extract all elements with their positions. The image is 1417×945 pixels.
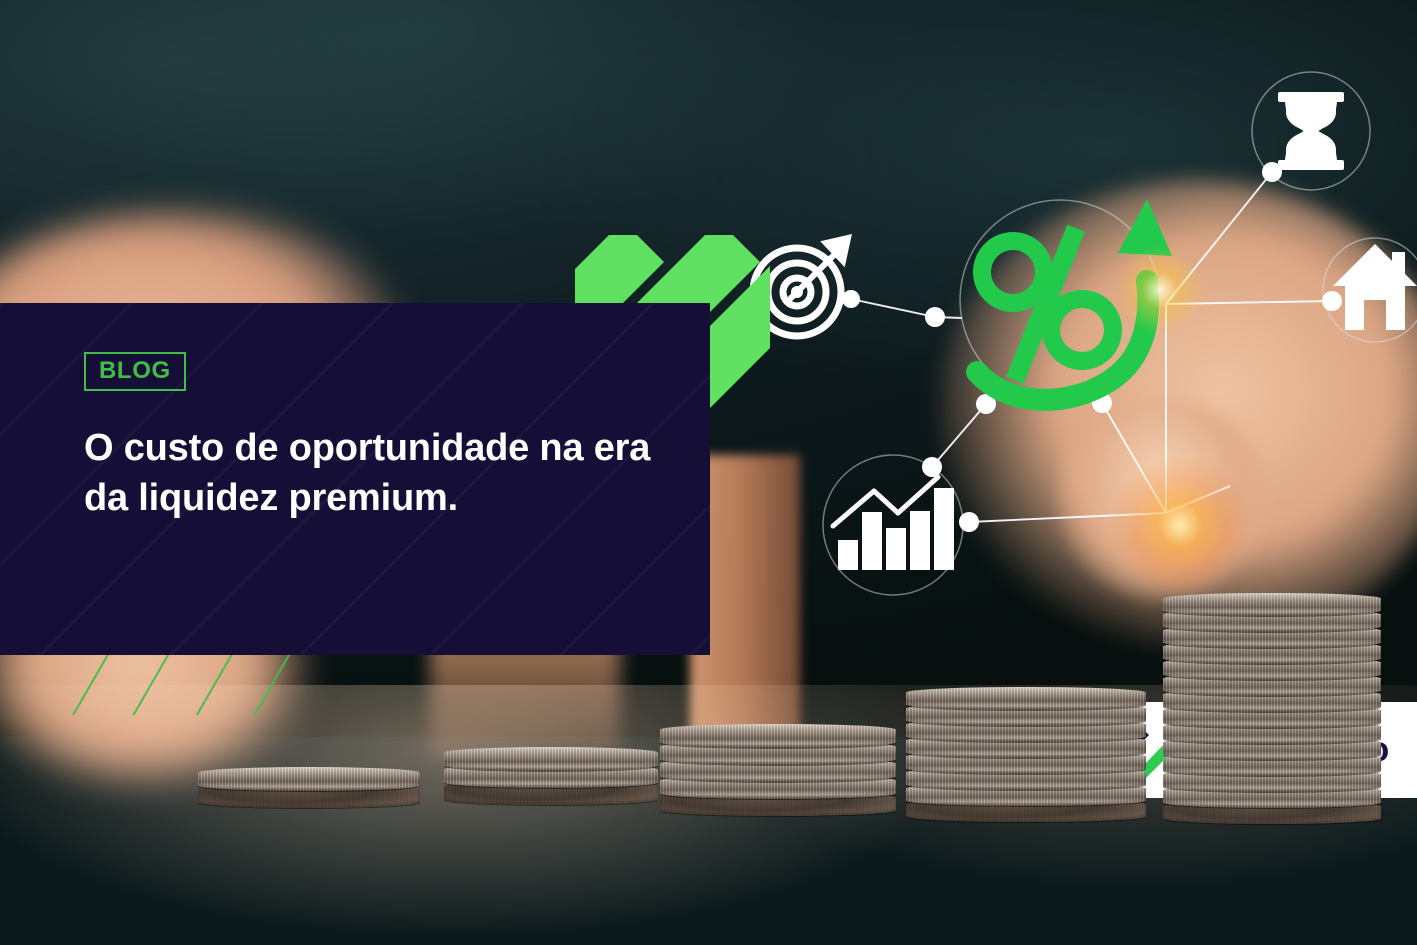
coin-stack-4 (906, 687, 1146, 838)
blog-banner: BLOG O custo de oportunidade na era da l… (0, 0, 1417, 945)
percent-icon (982, 225, 1113, 384)
hud-nodes (842, 162, 1342, 532)
target-center-dot (791, 286, 803, 298)
coin (1163, 593, 1381, 616)
house-icon (1333, 244, 1417, 330)
coin (660, 724, 896, 748)
green-hairlines (60, 645, 320, 715)
growth-arrow-head (1118, 199, 1172, 256)
coin (444, 747, 658, 771)
bar-chart-icon (838, 488, 954, 570)
coin-stack-5 (1163, 593, 1381, 840)
coin (198, 767, 420, 791)
coin (906, 687, 1146, 710)
blog-badge[interactable]: BLOG (84, 352, 186, 391)
page-title: O custo de oportunidade na era da liquid… (84, 424, 664, 524)
